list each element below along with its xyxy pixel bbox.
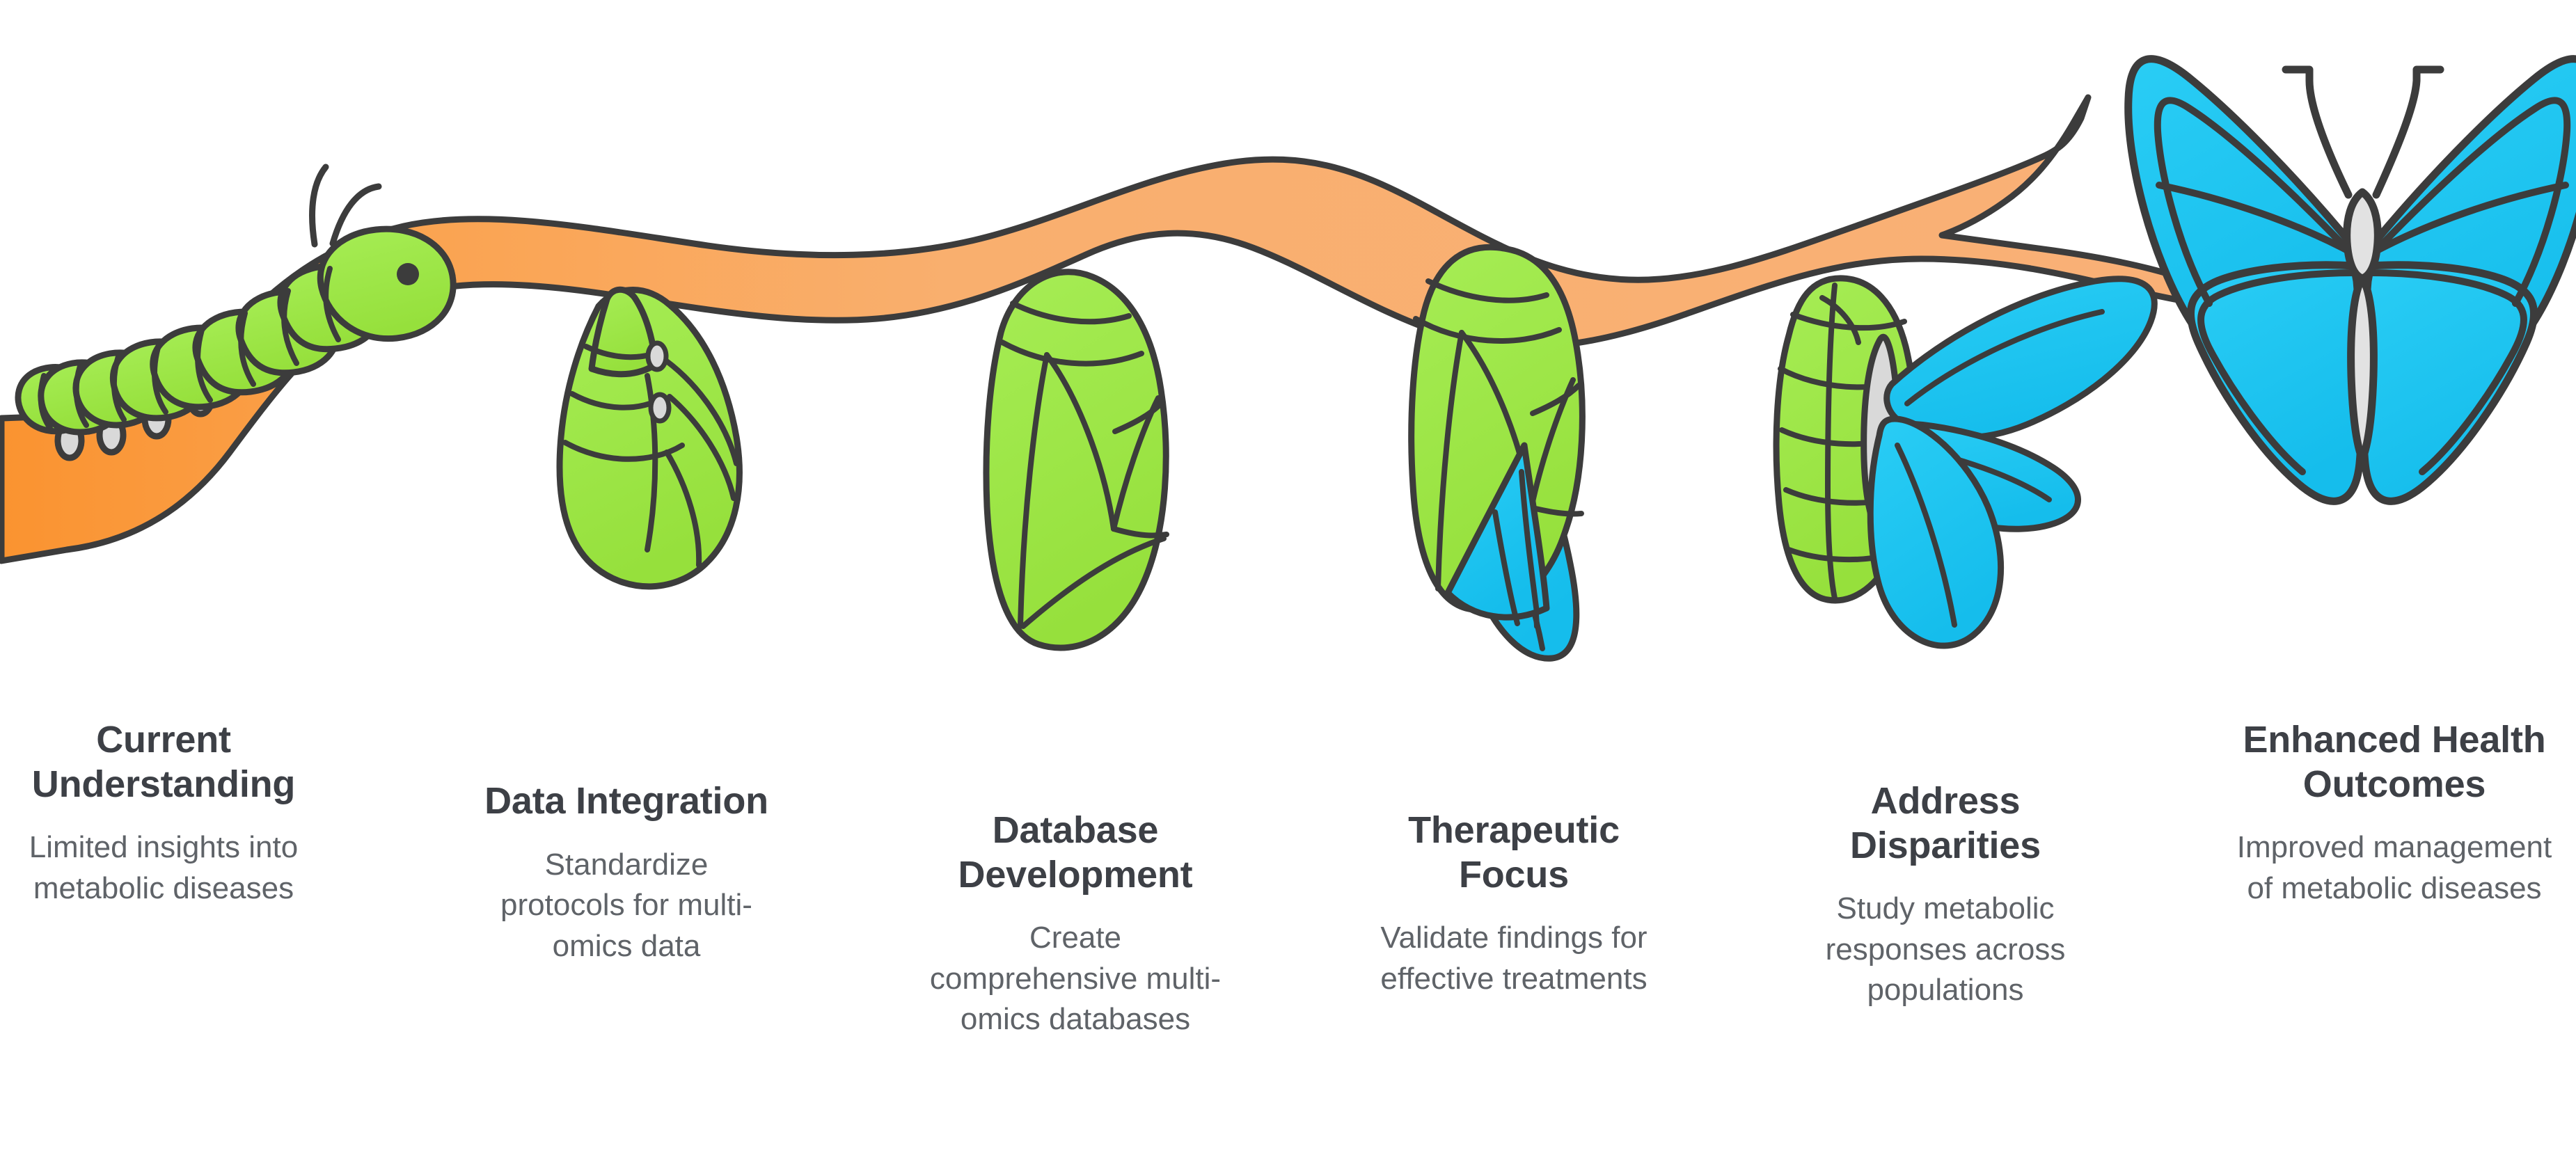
stage-desc-6: Improved management of metabolic disease… [2234, 827, 2554, 909]
stage-column-1: Current Understanding Limited insights i… [7, 718, 320, 909]
stage-desc-3: Create comprehensive multi-omics databas… [926, 918, 1225, 1040]
stage-title-3: Database Development [926, 809, 1225, 897]
stage-column-3: Database Development Create comprehensiv… [926, 809, 1225, 1040]
stage-title-4: Therapeutic Focus [1350, 809, 1677, 897]
stage-desc-4: Validate findings for effective treatmen… [1350, 918, 1677, 999]
stage-title-2: Data Integration [480, 779, 773, 824]
butterfly-icon [2128, 59, 2576, 502]
stage-captions: Current Understanding Limited insights i… [0, 703, 2576, 1169]
stage-desc-5: Study metabolic responses across populat… [1789, 889, 2102, 1011]
butterfly-emerging-icon [1776, 278, 2154, 646]
stage-column-5: Address Disparities Study metabolic resp… [1789, 779, 2102, 1011]
stage-column-4: Therapeutic Focus Validate findings for … [1350, 809, 1677, 999]
stage-desc-1: Limited insights into metabolic diseases [7, 827, 320, 909]
stage-title-1: Current Understanding [7, 718, 320, 806]
chrysalis-early-icon [560, 289, 739, 587]
infographic-canvas: Current Understanding Limited insights i… [0, 0, 2576, 1169]
chrysalis-emerging-icon [1412, 247, 1583, 658]
stage-title-5: Address Disparities [1789, 779, 2102, 868]
stage-title-6: Enhanced Health Outcomes [2234, 718, 2554, 806]
chrysalis-icon [986, 272, 1167, 648]
metamorphosis-illustration [0, 0, 2576, 703]
stage-desc-2: Standardize protocols for multi-omics da… [480, 845, 773, 967]
stage-column-2: Data Integration Standardize protocols f… [480, 779, 773, 967]
stage-column-6: Enhanced Health Outcomes Improved manage… [2234, 718, 2554, 909]
